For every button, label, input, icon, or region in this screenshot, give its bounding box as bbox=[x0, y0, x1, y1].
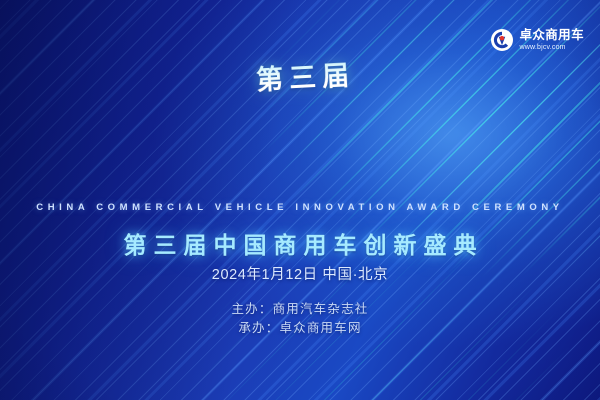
calligraphy-char-1: 创 bbox=[41, 98, 140, 202]
brand-website-url: www.bjcv.com bbox=[519, 44, 584, 51]
calligraphy-main-title: 创新盛典 bbox=[42, 63, 413, 189]
brand-logo-text: 卓众商用车 www.bjcv.com bbox=[519, 29, 584, 51]
brand-name-cn: 卓众商用车 bbox=[519, 29, 584, 42]
calligraphy-char-3: 盛 bbox=[223, 98, 324, 200]
event-poster: 卓众商用车 www.bjcv.com 第三届 创新盛典 CHINA COMMER… bbox=[0, 0, 600, 400]
organizer-host: 主办：商用汽车杂志社 bbox=[0, 300, 600, 319]
calligraphy-headline: 第三届 创新盛典 bbox=[0, 46, 600, 196]
chinese-title: 第三届中国商用车创新盛典 bbox=[0, 226, 600, 260]
zhuozhong-cv-logo-mark bbox=[490, 28, 514, 52]
organizer-coorganizer: 承办：卓众商用车网 bbox=[0, 319, 600, 338]
brand-logo[interactable]: 卓众商用车 www.bjcv.com bbox=[490, 28, 584, 52]
english-title: CHINA COMMERCIAL VEHICLE INNOVATION AWAR… bbox=[0, 202, 600, 213]
organizers-block: 主办：商用汽车杂志社 承办：卓众商用车网 bbox=[0, 300, 600, 338]
calligraphy-char-4: 典 bbox=[317, 66, 414, 174]
calligraphy-char-2: 新 bbox=[131, 70, 230, 180]
date-location: 2024年1月12日 中国·北京 bbox=[0, 263, 600, 284]
